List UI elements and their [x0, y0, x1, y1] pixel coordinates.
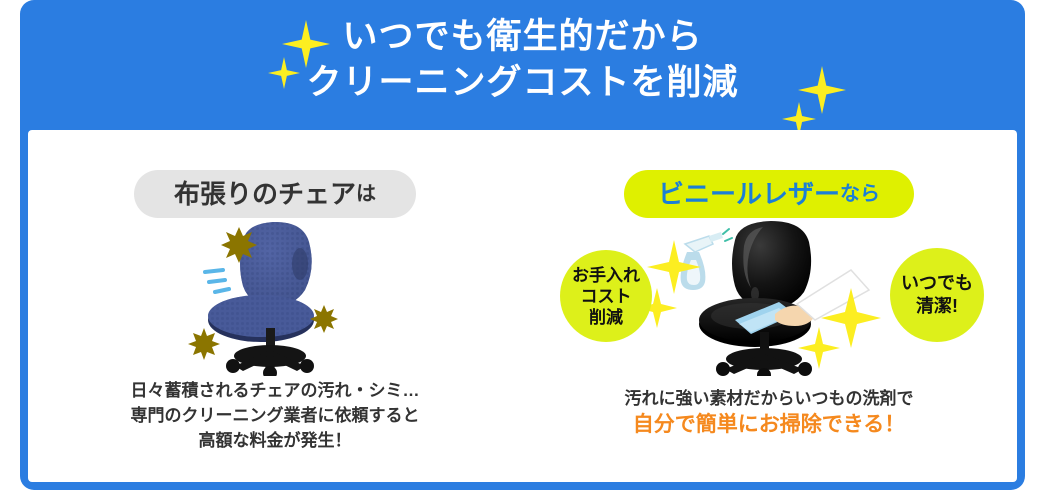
right-badge: ビニールレザーなら	[624, 170, 914, 218]
header-title-line-2: クリーニングコストを削減	[20, 60, 1025, 106]
maintenance-cost-line-1: お手入れ	[572, 265, 640, 286]
always-clean-circle: いつでも 清潔!	[890, 248, 984, 342]
maintenance-cost-line-3: 削減	[589, 307, 623, 328]
maintenance-cost-line-2: コスト	[581, 286, 632, 307]
left-caption-line-2: 専門のクリーニング業者に依頼すると	[28, 403, 522, 428]
left-caption: 日々蓄積されるチェアの汚れ・シミ… 専門のクリーニング業者に依頼すると 高額な料…	[28, 378, 522, 453]
content-panel: 布張りのチェアは	[28, 130, 1017, 482]
left-badge-suffix: は	[356, 183, 376, 205]
right-badge-main: ビニールレザー	[658, 179, 840, 209]
always-clean-line-2: 清潔!	[916, 295, 958, 318]
left-caption-line-1: 日々蓄積されるチェアの汚れ・シミ…	[28, 378, 522, 403]
right-column: ビニールレザーなら	[522, 130, 1016, 482]
fabric-chair-svg	[175, 216, 375, 376]
left-column: 布張りのチェアは	[28, 130, 522, 482]
header-band: いつでも衛生的だから クリーニングコストを削減	[20, 0, 1025, 130]
leather-chair-svg	[639, 216, 899, 376]
right-badge-suffix: なら	[840, 183, 880, 205]
header-title-line-1: いつでも衛生的だから	[20, 14, 1025, 60]
sweat-drop-icon	[205, 270, 229, 292]
fabric-chair-illustration	[28, 216, 522, 376]
right-caption: 汚れに強い素材だからいつもの洗剤で 自分で簡単にお掃除できる！	[522, 386, 1016, 439]
right-caption-line-1: 汚れに強い素材だからいつもの洗剤で	[522, 386, 1016, 411]
always-clean-line-1: いつでも	[901, 272, 973, 295]
left-badge: 布張りのチェアは	[134, 170, 416, 218]
spray-bottle-icon	[681, 229, 732, 290]
right-caption-accent: 自分で簡単にお掃除できる！	[522, 411, 1016, 439]
left-caption-line-3: 高額な料金が発生！	[28, 428, 522, 453]
header-title: いつでも衛生的だから クリーニングコストを削減	[20, 14, 1025, 106]
maintenance-cost-circle: お手入れ コスト 削減	[560, 250, 652, 342]
infographic-root: いつでも衛生的だから クリーニングコストを削減 布張りのチェアは	[0, 0, 1045, 499]
left-badge-main: 布張りのチェア	[174, 179, 356, 209]
